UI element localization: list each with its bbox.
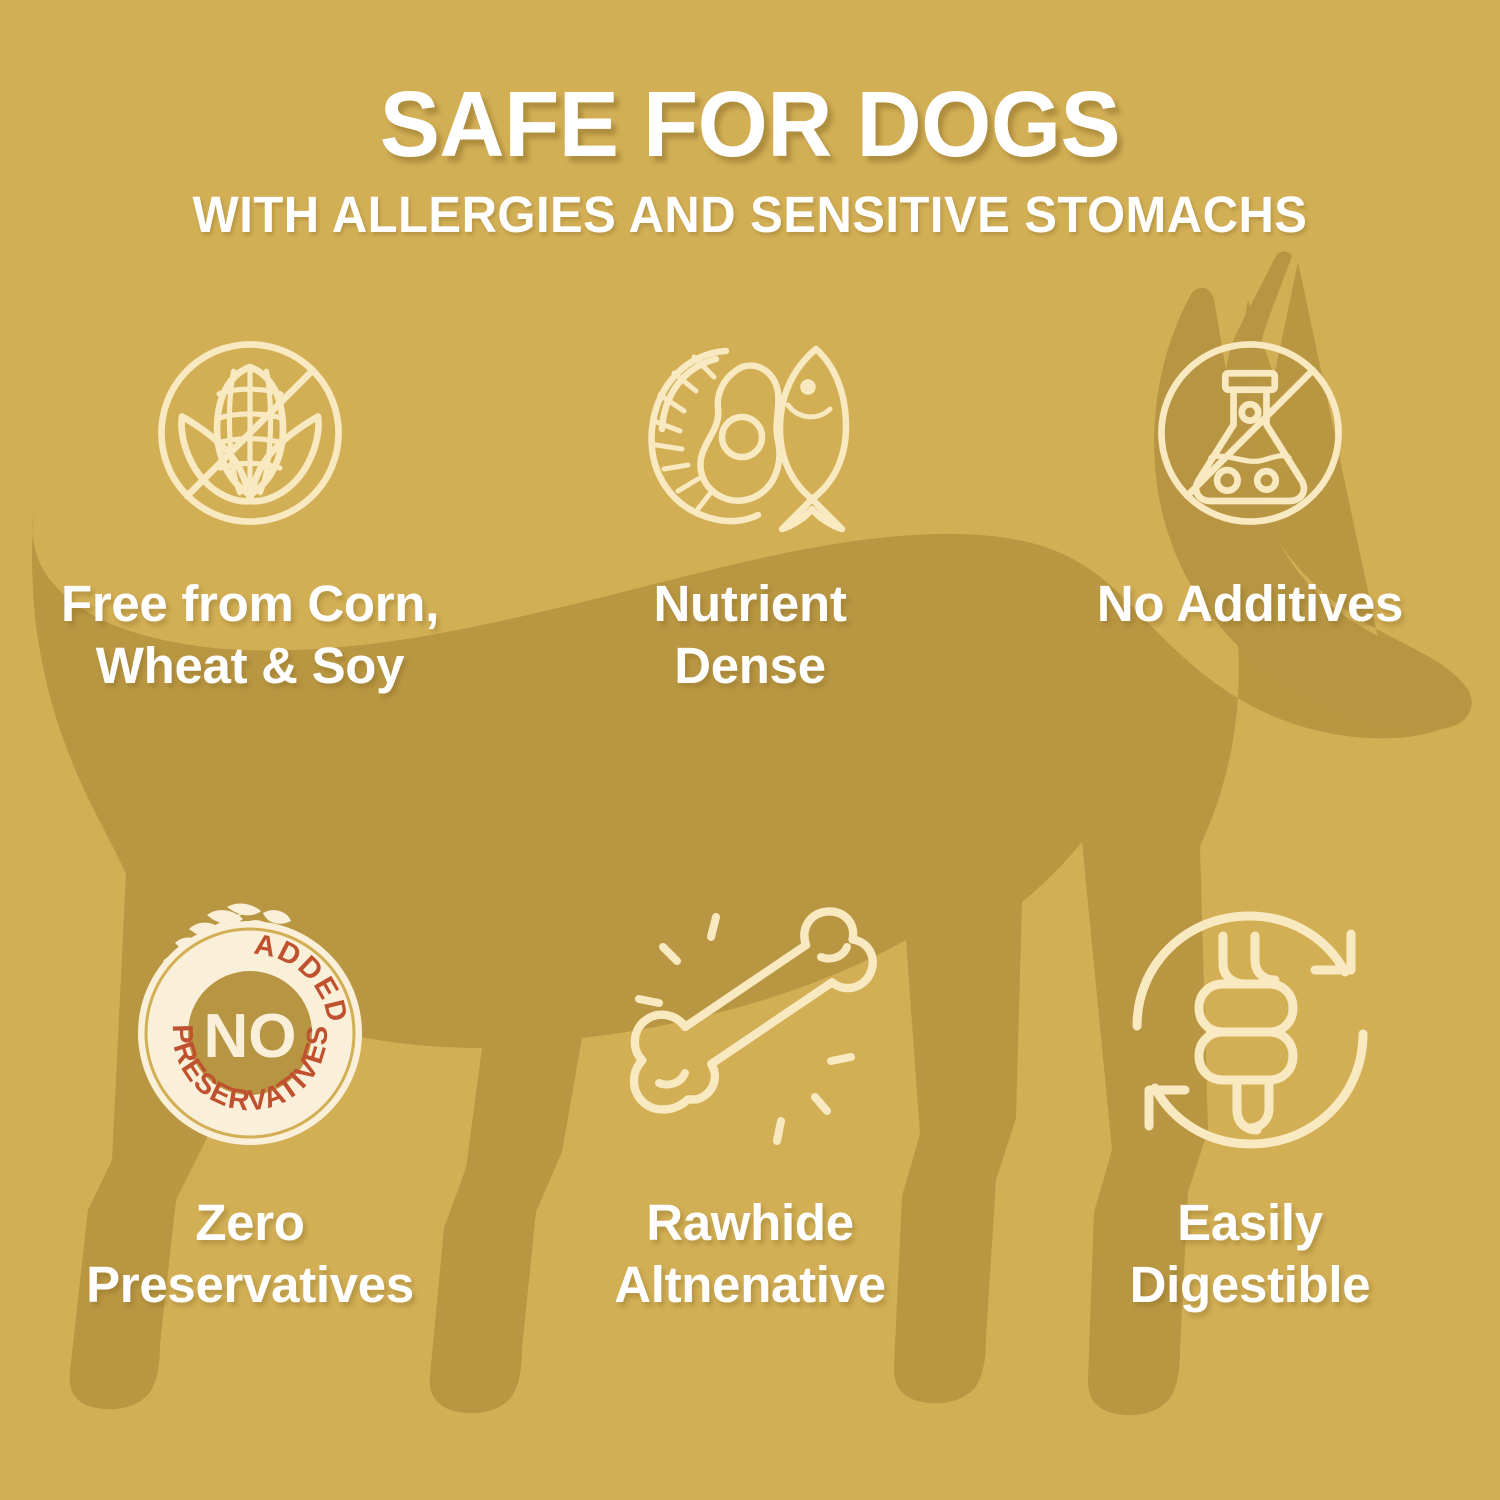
feature-label-line: Wheat & Soy: [61, 635, 439, 697]
no-flask-icon: [1147, 330, 1353, 536]
feature-label-line: Rawhide: [614, 1192, 886, 1254]
page-subtitle: WITH ALLERGIES AND SENSITIVE STOMACHS: [30, 189, 1470, 240]
feature-rawhide-alternative: Rawhide Altnenative: [500, 890, 1000, 1480]
feature-label: No Additives: [1097, 573, 1403, 635]
intestine-refresh-icon: [1119, 902, 1381, 1158]
meat-egg-fish-icon: [630, 330, 870, 536]
feature-label-line: Zero: [86, 1192, 414, 1254]
icon-container: [630, 300, 870, 565]
feature-label-line: Digestible: [1130, 1254, 1371, 1316]
no-added-preservatives-badge-icon: NO ADDED PRESERVATIVES: [111, 899, 389, 1161]
feature-no-additives: No Additives: [1000, 300, 1500, 890]
feature-free-from-corn-wheat-soy: Free from Corn, Wheat & Soy: [0, 300, 500, 890]
feature-easily-digestible: Easily Digestible: [1000, 890, 1500, 1480]
feature-label: Zero Preservatives: [86, 1192, 414, 1316]
badge-center-text: NO: [204, 1002, 297, 1071]
feature-label: Free from Corn, Wheat & Soy: [61, 573, 439, 697]
feature-label: Rawhide Altnenative: [614, 1192, 886, 1316]
page-title: SAFE FOR DOGS: [23, 78, 1478, 171]
feature-nutrient-dense: Nutrient Dense: [500, 300, 1000, 890]
bone-sparkle-icon: [615, 899, 885, 1161]
feature-label-line: Free from Corn,: [61, 573, 439, 635]
feature-label-line: Altnenative: [614, 1254, 886, 1316]
feature-grid: Free from Corn, Wheat & Soy: [0, 300, 1500, 1480]
icon-container: [1119, 890, 1381, 1170]
icon-container: [615, 890, 885, 1170]
icon-container: [1147, 300, 1353, 565]
feature-label-line: Preservatives: [86, 1254, 414, 1316]
icon-container: [147, 300, 353, 565]
feature-label-line: Nutrient: [653, 573, 846, 635]
icon-container: NO ADDED PRESERVATIVES: [111, 890, 389, 1170]
no-corn-icon: [147, 330, 353, 536]
feature-label-line: No Additives: [1097, 573, 1403, 635]
feature-label-line: Easily: [1130, 1192, 1371, 1254]
feature-label-line: Dense: [653, 635, 846, 697]
infographic-canvas: SAFE FOR DOGS WITH ALLERGIES AND SENSITI…: [0, 0, 1500, 1500]
feature-label: Nutrient Dense: [653, 573, 846, 697]
feature-zero-preservatives: NO ADDED PRESERVATIVES Zero Preservative…: [0, 890, 500, 1480]
feature-label: Easily Digestible: [1130, 1192, 1371, 1316]
header: SAFE FOR DOGS WITH ALLERGIES AND SENSITI…: [0, 78, 1500, 240]
